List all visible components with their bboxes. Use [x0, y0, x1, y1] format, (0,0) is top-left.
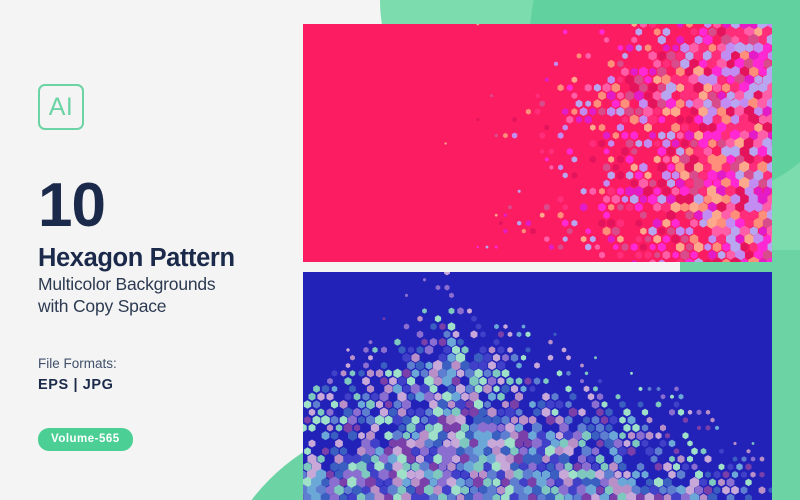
volume-badge: Volume-565	[38, 428, 133, 451]
page-subtitle: Multicolor Backgrounds with Copy Space	[38, 274, 288, 318]
file-formats-block: File Formats: EPS | JPG	[38, 354, 288, 393]
file-formats-label: File Formats:	[38, 354, 288, 374]
pink-hexagon-pattern	[303, 24, 772, 262]
adobe-illustrator-badge-icon: AI	[38, 84, 84, 130]
page-title: Hexagon Pattern	[38, 244, 288, 273]
info-column: AI 10 Hexagon Pattern Multicolor Backgro…	[38, 84, 288, 451]
item-count: 10	[38, 177, 288, 236]
blue-hexagon-preview[interactable]	[303, 272, 772, 500]
blue-hexagon-pattern	[303, 272, 772, 500]
subtitle-line-2: with Copy Space	[38, 296, 288, 318]
ai-badge-label: AI	[49, 95, 74, 120]
pink-hexagon-preview[interactable]	[303, 24, 772, 262]
file-formats-value: EPS | JPG	[38, 377, 288, 393]
product-preview-card: AI 10 Hexagon Pattern Multicolor Backgro…	[0, 0, 800, 500]
subtitle-line-1: Multicolor Backgrounds	[38, 274, 288, 296]
